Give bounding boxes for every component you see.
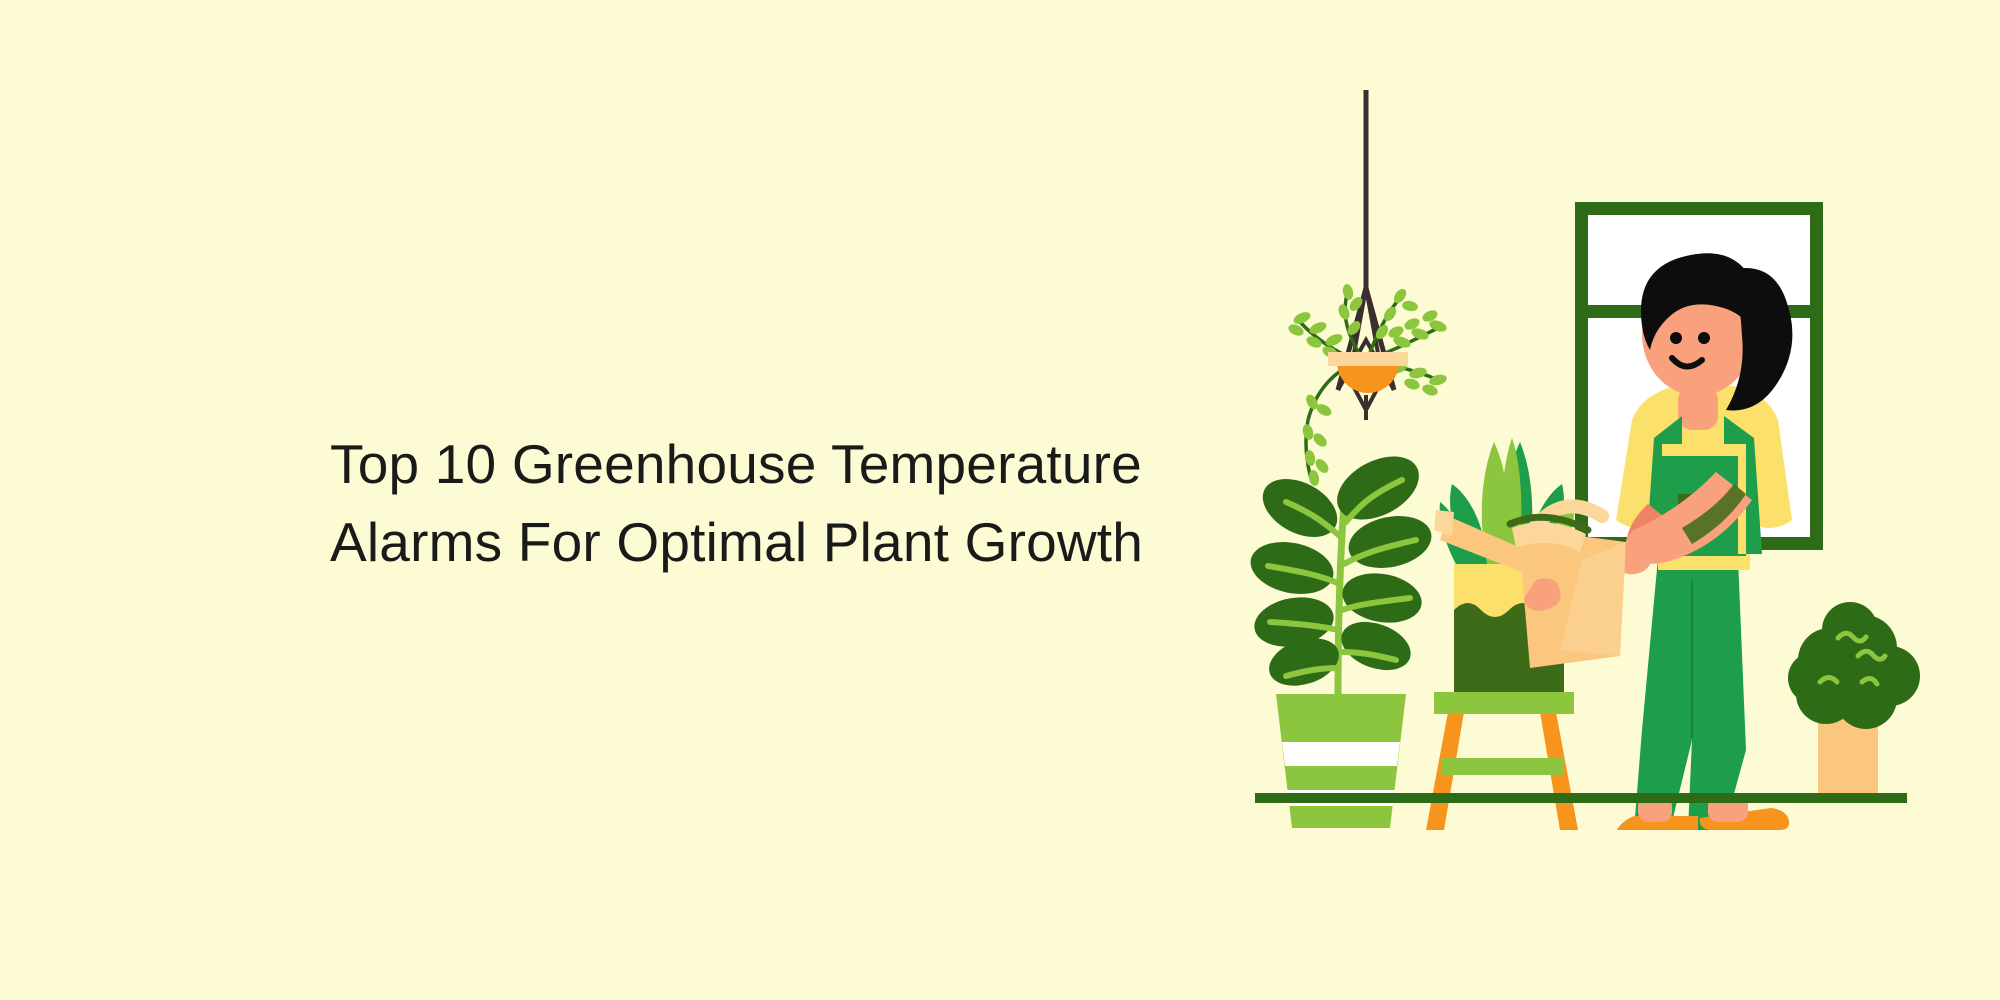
illustration-woman-watering-plants [1230, 90, 1930, 830]
page-title: Top 10 Greenhouse Temperature Alarms For… [330, 425, 1170, 581]
stool-icon [1426, 692, 1578, 830]
hanging-plant-icon [1287, 90, 1449, 487]
banner-root: Top 10 Greenhouse Temperature Alarms For… [0, 0, 2000, 1000]
topiary-bush-icon [1788, 602, 1920, 797]
potted-leafy-plant-icon [1246, 444, 1437, 828]
headline-line-2: Alarms For Optimal Plant Growth [330, 503, 1170, 581]
headline-line-1: Top 10 Greenhouse Temperature [330, 425, 1170, 503]
